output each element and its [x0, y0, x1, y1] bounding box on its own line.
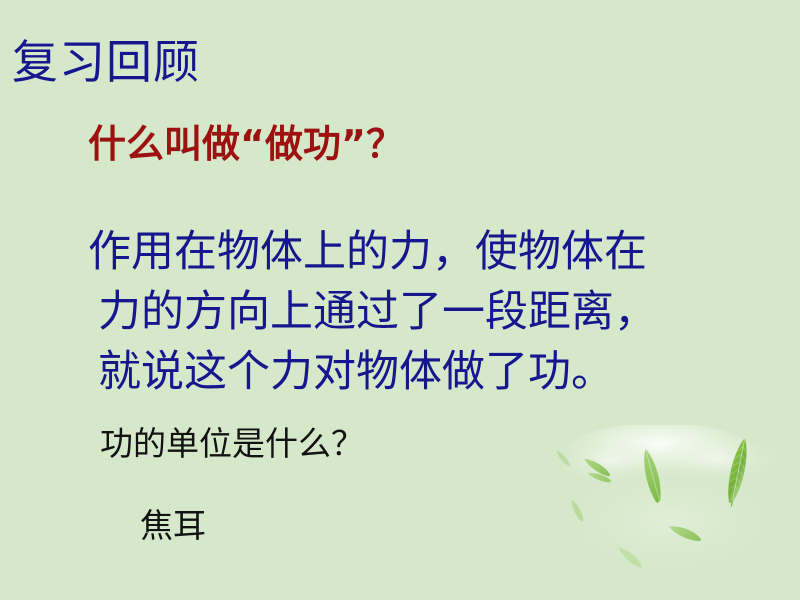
slide-canvas: 复习回顾 什么叫做“做功”？ 作用在物体上的力，使物体在 力的方向上通过了一段距…	[0, 0, 800, 600]
unit-question-text: 功的单位是什么？	[100, 424, 364, 464]
leaf-small-upper-left	[582, 456, 612, 478]
leaf-large-right	[723, 436, 751, 507]
question-heading: 什么叫做“做功”？	[88, 124, 404, 166]
leaf-small-upper-left-2	[587, 471, 612, 484]
definition-line-1: 作用在物体上的力，使物体在	[88, 222, 748, 282]
leaf-group	[555, 436, 752, 570]
leaf-small-left-low	[569, 498, 586, 522]
leaf-mid-center	[640, 447, 665, 504]
leaf-tiny-far-left	[555, 449, 572, 468]
unit-answer-text: 焦耳	[140, 506, 206, 546]
definition-paragraph: 作用在物体上的力，使物体在 力的方向上通过了一段距离， 就说这个力对物体做了功。	[88, 222, 748, 402]
definition-line-3: 就说这个力对物体做了功。	[88, 342, 748, 402]
leaf-mid-low-center	[668, 523, 703, 544]
page-title: 复习回顾	[12, 38, 200, 86]
falling-leaves-artwork	[540, 425, 800, 600]
leaf-low-bottom	[616, 545, 644, 570]
definition-line-2: 力的方向上通过了一段距离，	[88, 282, 748, 342]
cloud-mist	[558, 425, 780, 575]
